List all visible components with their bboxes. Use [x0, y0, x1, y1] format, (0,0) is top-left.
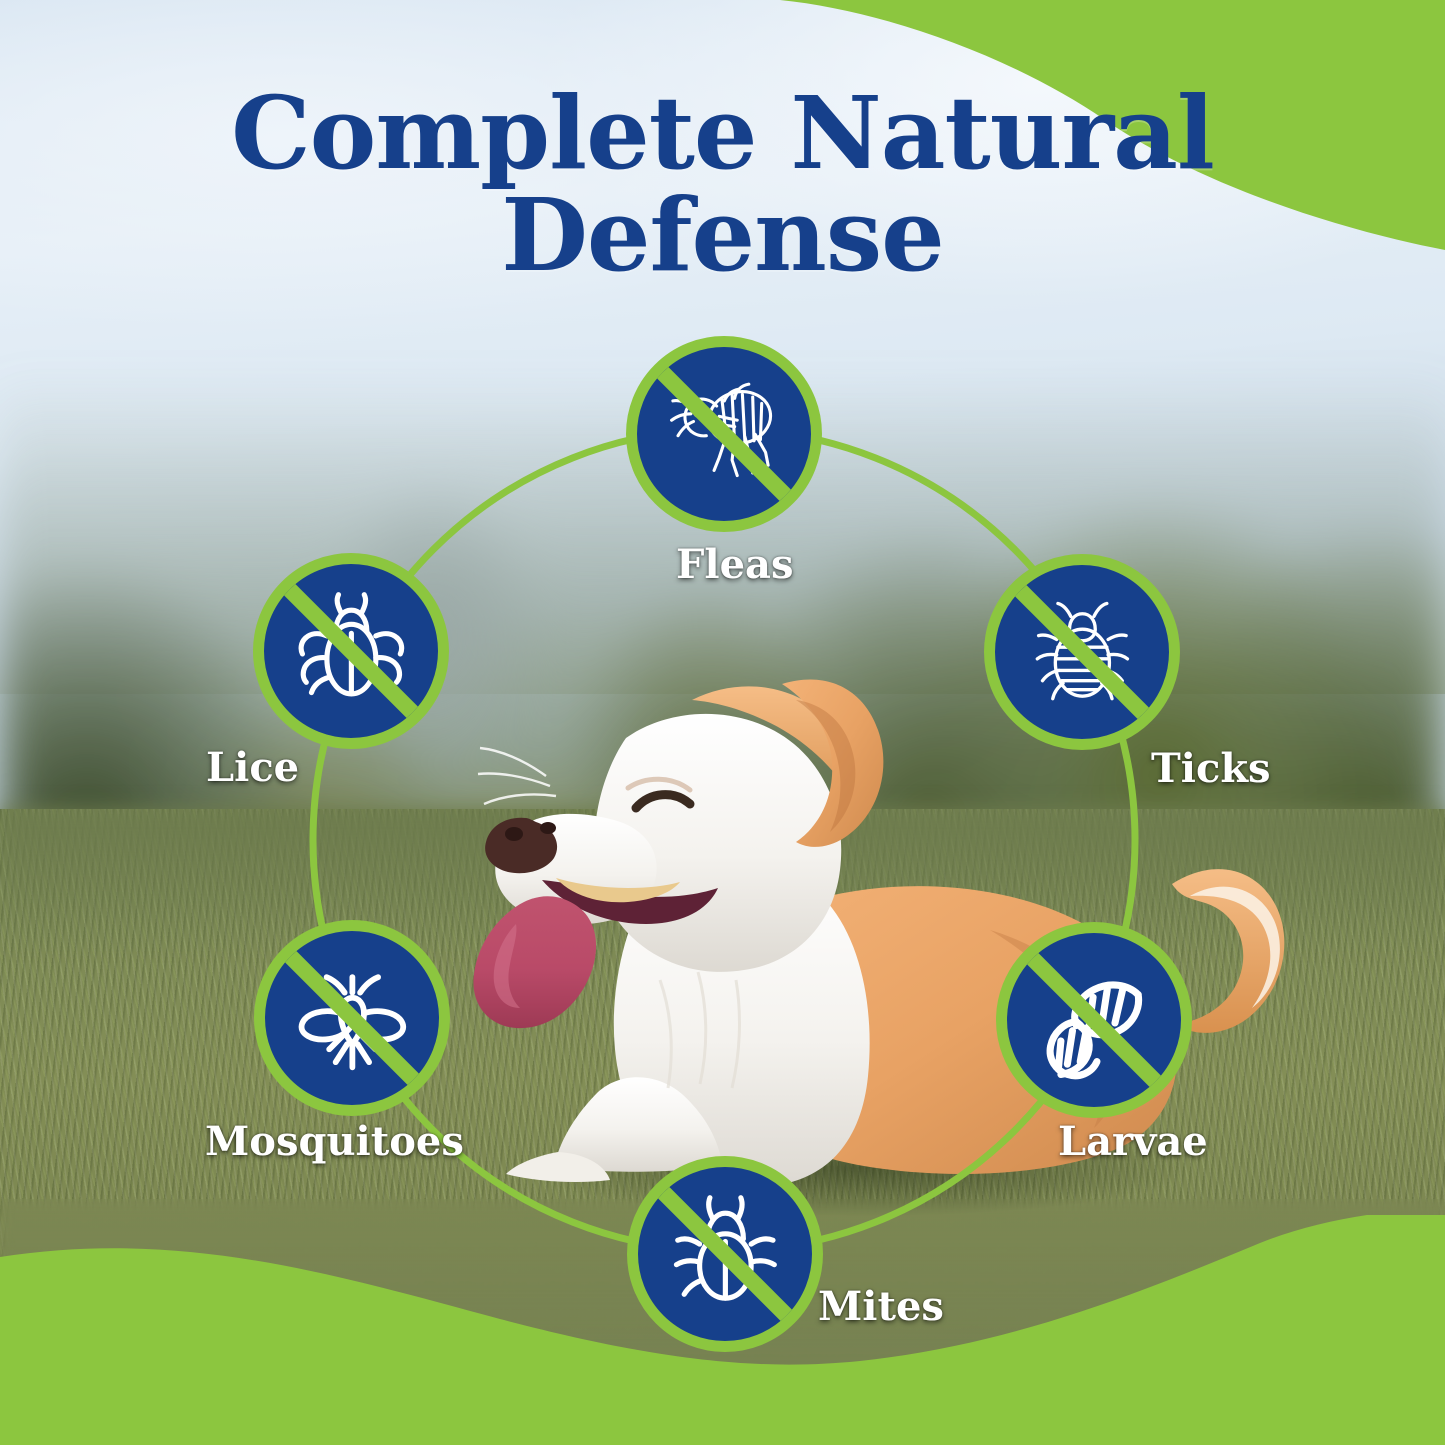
slash-icon	[262, 562, 440, 740]
slash-icon	[635, 345, 813, 523]
pest-disc	[996, 922, 1192, 1118]
pest-disc	[254, 920, 450, 1116]
pest-label-ticks: Ticks	[1151, 745, 1271, 792]
pest-label-larvae: Larvae	[1058, 1118, 1208, 1165]
title-line-1: Complete Natural	[231, 74, 1214, 192]
pest-disc	[626, 336, 822, 532]
pest-disc	[253, 553, 449, 749]
slash-icon	[263, 929, 441, 1107]
pest-label-mosquitoes: Mosquitoes	[205, 1118, 464, 1165]
slash-icon	[1005, 931, 1183, 1109]
slash-icon	[993, 563, 1171, 741]
page-title: Complete Natural Defense	[0, 82, 1445, 286]
pest-badge-mosquitoes[interactable]	[254, 920, 450, 1116]
pest-label-lice: Lice	[206, 744, 299, 791]
title-line-2: Defense	[0, 184, 1445, 286]
promo-graphic: Complete Natural Defense	[0, 0, 1445, 1445]
dog-nostril-2	[540, 822, 556, 834]
pest-label-fleas: Fleas	[676, 541, 793, 588]
pest-disc	[984, 554, 1180, 750]
slash-icon	[636, 1165, 814, 1343]
pest-badge-ticks[interactable]	[984, 554, 1180, 750]
dog-tongue	[473, 896, 596, 1028]
pest-badge-fleas[interactable]	[626, 336, 822, 532]
pest-label-mites: Mites	[818, 1283, 944, 1330]
pest-badge-mites[interactable]	[627, 1156, 823, 1352]
dog-whiskers	[478, 748, 556, 804]
pest-badge-lice[interactable]	[253, 553, 449, 749]
pest-disc	[627, 1156, 823, 1352]
dog-nostril	[505, 827, 523, 841]
pest-badge-larvae[interactable]	[996, 922, 1192, 1118]
